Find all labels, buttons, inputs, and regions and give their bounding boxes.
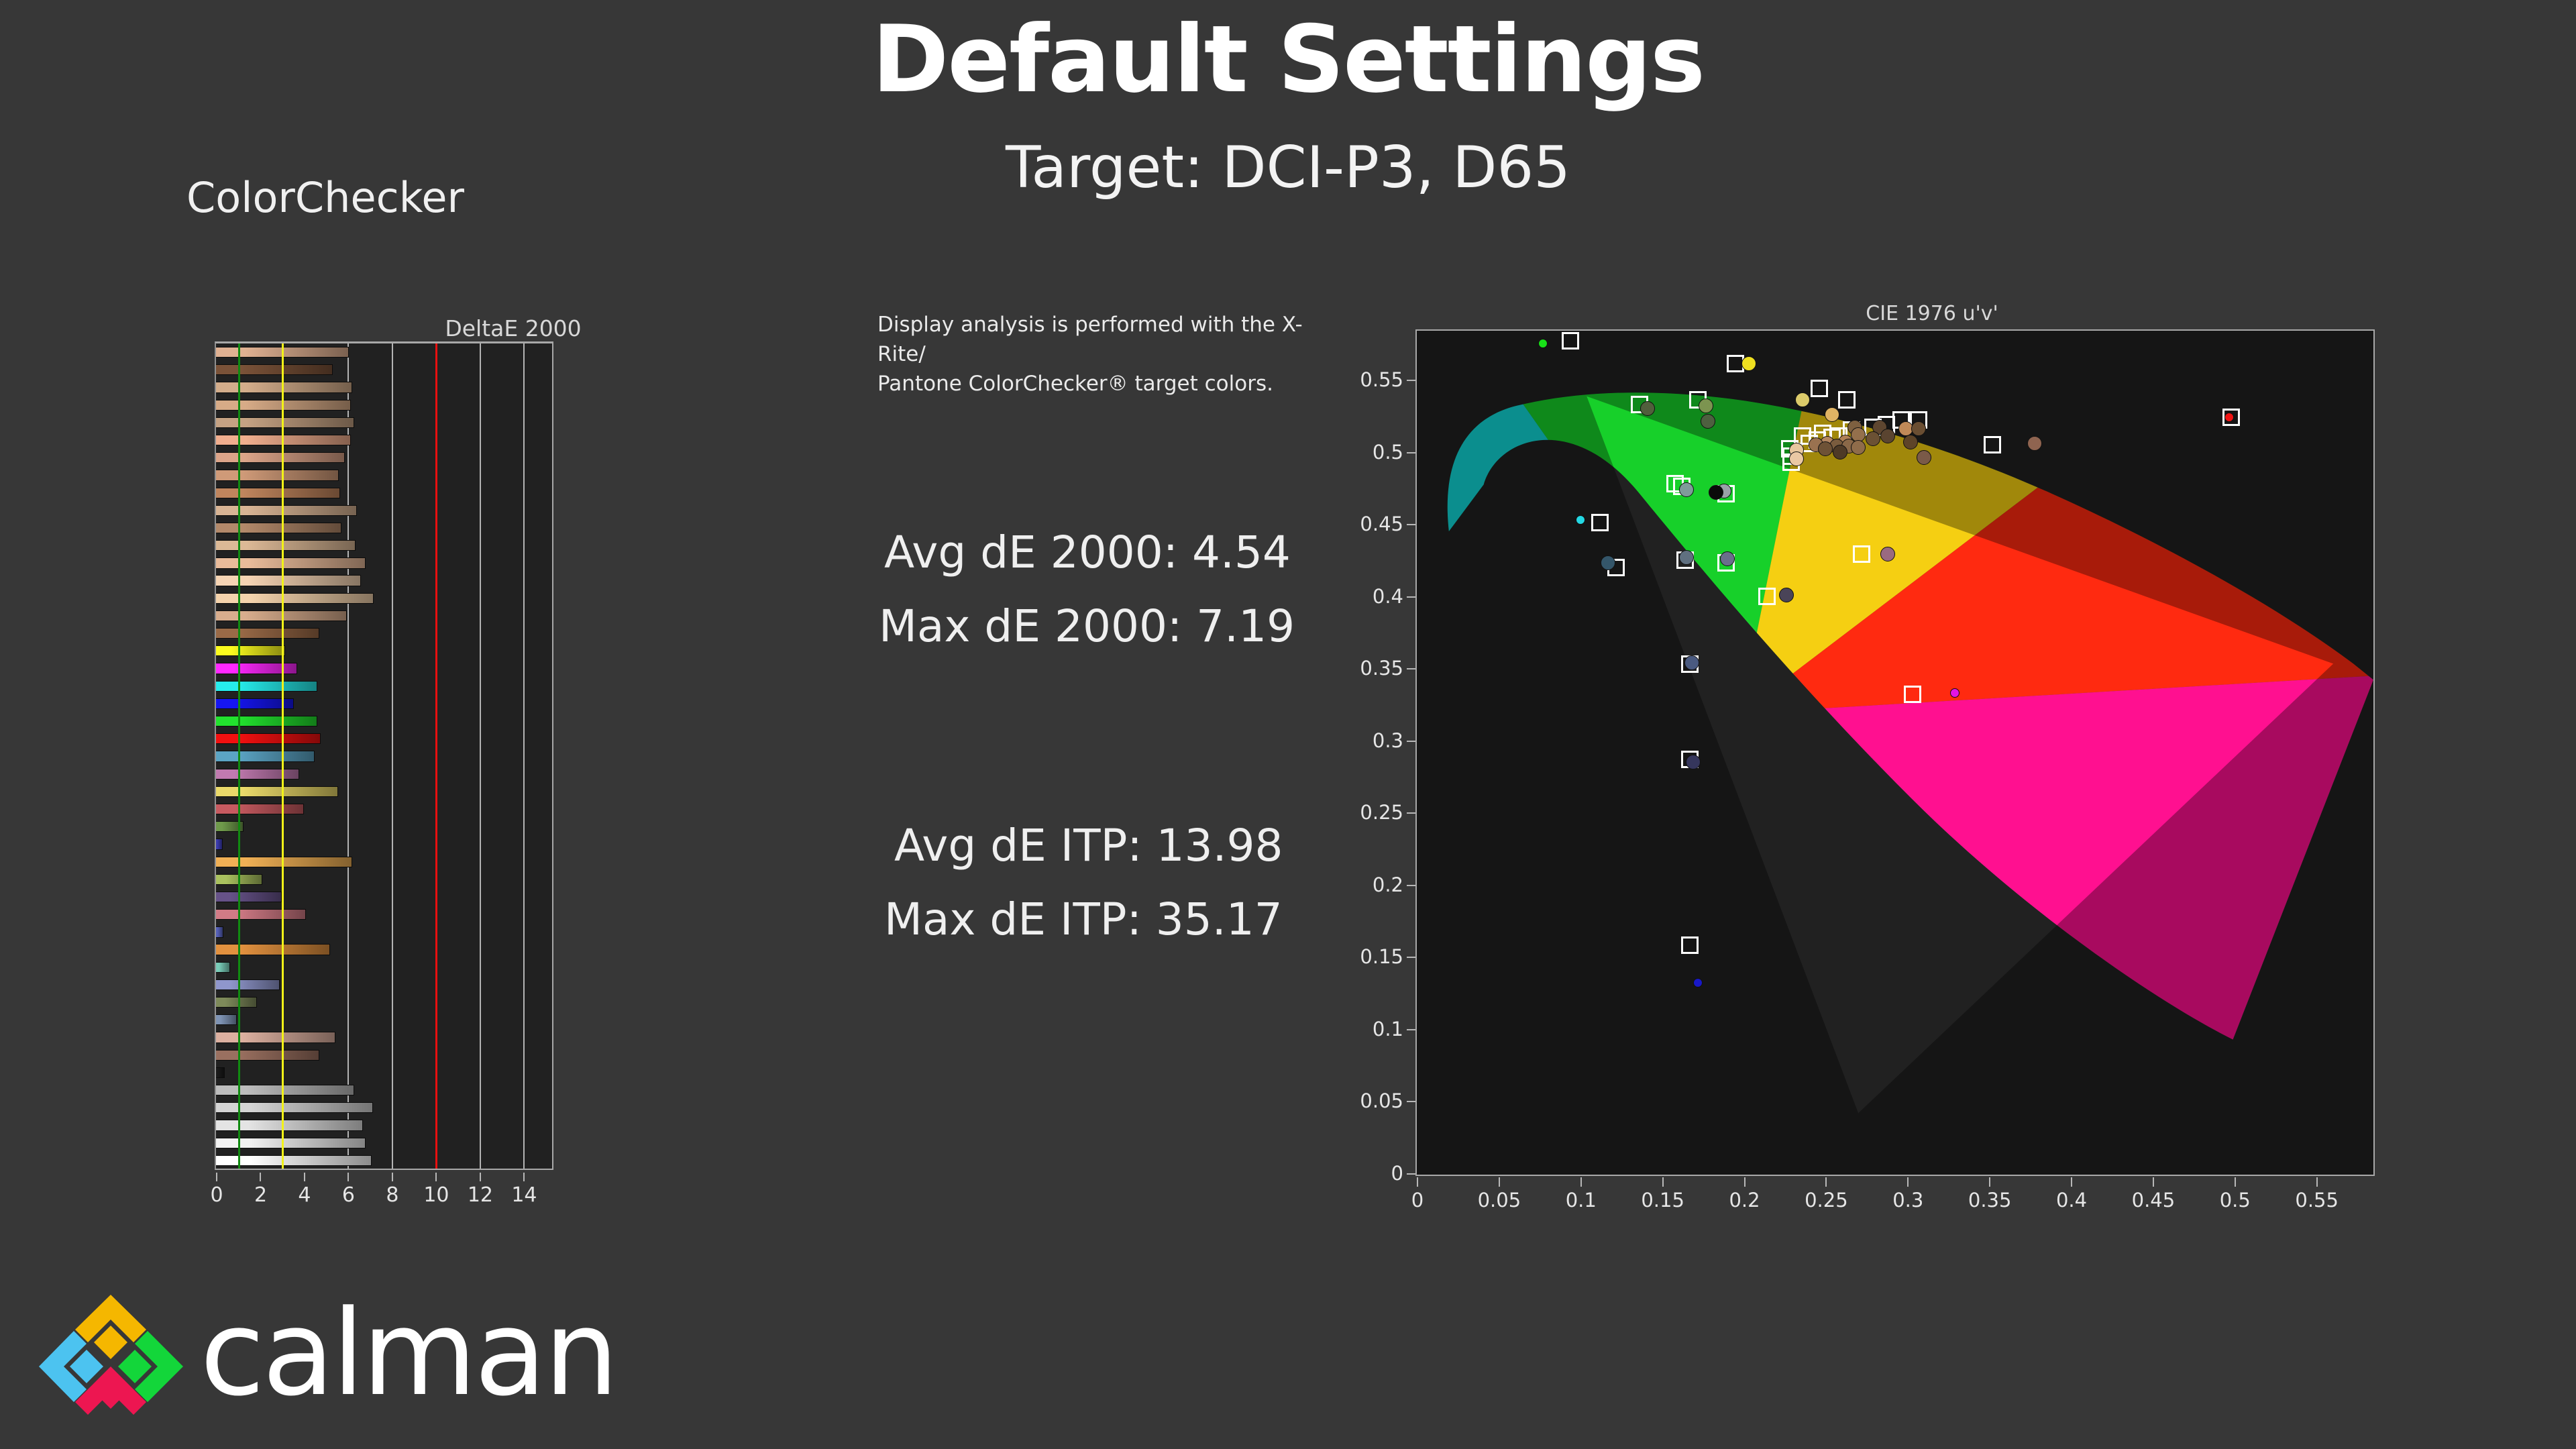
deltae-bar — [216, 979, 280, 990]
cie-x-tick — [2235, 1177, 2236, 1187]
deltae-x-tick — [347, 1173, 349, 1181]
cie-y-tick — [1407, 524, 1415, 525]
cie-measured-point — [1818, 441, 1833, 456]
cie-y-label: 0.05 — [1360, 1089, 1403, 1112]
cie-x-tick — [2316, 1177, 2318, 1187]
deltae-bar — [216, 382, 352, 392]
cie-target-marker — [1758, 588, 1776, 605]
cie-y-tick — [1407, 1173, 1415, 1175]
deltae-bar — [216, 769, 299, 780]
deltae-bar — [216, 523, 341, 533]
deltae-bar — [216, 488, 340, 498]
cie-y-tick — [1407, 452, 1415, 453]
deltae-x-tick — [480, 1173, 481, 1181]
cie-measured-point — [1880, 429, 1895, 443]
cie-x-tick — [1907, 1177, 1909, 1187]
cie-x-tick — [1499, 1177, 1500, 1187]
deltae-bar — [216, 716, 317, 727]
deltae-x-label: 12 — [468, 1183, 493, 1207]
green-threshold — [238, 343, 240, 1169]
deltae-chart-title: DeltaE 2000 — [201, 315, 825, 341]
cie-target-marker — [1984, 436, 2001, 453]
cie-y-label: 0.45 — [1360, 513, 1403, 535]
analysis-description-line2: Pantone ColorChecker® target colors. — [877, 369, 1347, 398]
cie-y-tick — [1407, 741, 1415, 742]
cie-y-tick — [1407, 1029, 1415, 1030]
cie-y-label: 0.4 — [1373, 585, 1403, 608]
deltae-x-tick — [435, 1173, 437, 1181]
deltae-gridline — [480, 343, 481, 1169]
deltae-bar — [216, 944, 330, 955]
deltae-x-label: 2 — [254, 1183, 267, 1207]
cie-measured-point — [1903, 435, 1918, 449]
cie-y-label: 0.3 — [1373, 729, 1403, 752]
cie-target-marker — [1562, 332, 1579, 350]
cie-chart-title: CIE 1976 u'v' — [1798, 302, 2066, 325]
deltae-bar — [216, 364, 333, 375]
cie-measured-point — [1833, 445, 1847, 460]
cie-y-axis: 00.050.10.150.20.250.30.350.40.450.50.55 — [1368, 329, 1415, 1179]
cie-x-label: 0.55 — [2295, 1189, 2339, 1212]
cie-measured-point — [1576, 515, 1585, 525]
cie-x-label: 0.1 — [1566, 1189, 1597, 1212]
cie-measured-point — [1684, 655, 1699, 670]
deltae-bar — [216, 540, 356, 551]
cie-measured-point — [1851, 440, 1866, 455]
deltae-bar — [216, 804, 304, 814]
cie-measured-point — [2027, 436, 2042, 451]
cie-x-label: 0.5 — [2220, 1189, 2251, 1212]
deltae-x-label: 4 — [298, 1183, 311, 1207]
deltae-x-label: 0 — [210, 1183, 223, 1207]
deltae-bar — [216, 751, 315, 761]
cie-x-tick — [2153, 1177, 2154, 1187]
cie-x-tick — [1744, 1177, 1746, 1187]
deltae-bar — [216, 839, 223, 849]
colorchecker-label: ColorChecker — [186, 173, 464, 222]
cie-x-axis: 00.050.10.150.20.250.30.350.40.450.50.55 — [1415, 1177, 2376, 1218]
deltae-bar — [216, 733, 321, 744]
cie-x-tick — [1417, 1177, 1418, 1187]
cie-measured-point — [1789, 451, 1804, 466]
cie-measured-point — [1720, 551, 1735, 566]
deltae-bar — [216, 1014, 237, 1025]
deltae-bar — [216, 417, 354, 428]
deltae-bar — [216, 1085, 354, 1095]
cie-y-tick — [1407, 596, 1415, 598]
analysis-description: Display analysis is performed with the X… — [877, 310, 1347, 398]
cie-measured-point — [1917, 450, 1931, 465]
deltae-bar — [216, 1050, 319, 1061]
deltae-bar — [216, 997, 257, 1008]
cie-y-tick — [1407, 885, 1415, 886]
deltae-bar — [216, 1032, 335, 1042]
cie-y-label: 0.35 — [1360, 657, 1403, 680]
cie-x-label: 0.15 — [1641, 1189, 1684, 1212]
cie-y-label: 0 — [1391, 1162, 1403, 1185]
cie-x-tick — [1662, 1177, 1664, 1187]
cie-chromaticity-chart: CIE 1976 u'v' 00.050.10.150.20.250.30.35… — [1368, 302, 2395, 1214]
deltae-x-tick — [216, 1173, 217, 1181]
cie-measured-point — [1538, 339, 1548, 348]
deltae-bar — [216, 681, 317, 692]
cie-x-tick — [1825, 1177, 1827, 1187]
cie-measured-point — [1911, 421, 1926, 436]
cie-target-marker — [1811, 380, 1828, 397]
deltae-plot-area — [215, 341, 553, 1170]
deltae-bar — [216, 909, 306, 920]
cie-measured-point — [1679, 482, 1694, 497]
cie-x-label: 0.35 — [1968, 1189, 2012, 1212]
cie-target-marker — [1681, 936, 1699, 954]
calman-logo: calman — [39, 1288, 683, 1422]
cie-y-label: 0.25 — [1360, 801, 1403, 824]
deltae-bar — [216, 470, 339, 480]
deltae-x-label: 10 — [423, 1183, 449, 1207]
cie-measured-point — [1679, 550, 1694, 565]
cie-x-label: 0.4 — [2056, 1189, 2087, 1212]
cie-x-label: 0.05 — [1478, 1189, 1521, 1212]
cie-x-label: 0 — [1411, 1189, 1424, 1212]
cie-measured-point — [1741, 356, 1756, 371]
deltae-gridline — [392, 343, 393, 1169]
cie-measured-point — [1880, 547, 1895, 561]
max-de2000-stat: Max dE 2000: 7.19 — [879, 600, 1295, 652]
deltae-x-label: 8 — [386, 1183, 398, 1207]
avg-de2000-stat: Avg dE 2000: 4.54 — [884, 527, 1291, 578]
deltae-bar — [216, 1067, 225, 1078]
red-threshold — [435, 343, 437, 1169]
cie-y-tick — [1407, 380, 1415, 381]
yellow-threshold — [282, 343, 284, 1169]
deltae-bar — [216, 926, 223, 937]
cie-measured-point — [2224, 413, 2234, 422]
page-title: Default Settings — [0, 13, 2576, 106]
deltae-x-tick — [392, 1173, 393, 1181]
deltae-bar — [216, 645, 285, 656]
deltae-x-label: 14 — [511, 1183, 537, 1207]
cie-measured-point — [1601, 555, 1615, 570]
cie-measured-point — [1699, 398, 1713, 413]
avg-deitp-stat: Avg dE ITP: 13.98 — [894, 820, 1283, 871]
cie-measured-point — [1825, 407, 1839, 422]
report-canvas: Default Settings Target: DCI-P3, D65 Col… — [0, 0, 2576, 1449]
cie-gamut-graphic — [1417, 331, 2373, 1175]
deltae-x-tick — [260, 1173, 261, 1181]
cie-y-tick — [1407, 957, 1415, 958]
cie-y-tick — [1407, 1101, 1415, 1102]
cie-y-tick — [1407, 668, 1415, 669]
deltae-x-axis: 02468101214 — [215, 1173, 555, 1210]
deltae-bar — [216, 663, 297, 674]
calman-logo-mark — [39, 1288, 183, 1422]
cie-measured-point — [1693, 978, 1703, 987]
deltae-x-tick — [304, 1173, 305, 1181]
deltae-bar — [216, 628, 319, 639]
cie-measured-point — [1795, 392, 1810, 407]
deltae-bar — [216, 452, 345, 463]
cie-y-label: 0.1 — [1373, 1018, 1403, 1040]
cie-x-tick — [2071, 1177, 2072, 1187]
cie-y-label: 0.2 — [1373, 873, 1403, 896]
cie-measured-point — [1950, 688, 1960, 698]
deltae-bar-chart: DeltaE 2000 02468101214 — [201, 315, 825, 1214]
deltae-gridline — [347, 343, 349, 1169]
cie-x-label: 0.45 — [2132, 1189, 2176, 1212]
cie-target-marker — [1591, 514, 1609, 531]
cie-y-label: 0.55 — [1360, 368, 1403, 391]
deltae-x-tick — [523, 1173, 525, 1181]
deltae-x-label: 6 — [342, 1183, 355, 1207]
cie-target-marker — [1853, 545, 1870, 563]
deltae-bar — [216, 786, 338, 797]
deltae-bar — [216, 892, 282, 902]
cie-y-label: 0.5 — [1373, 441, 1403, 464]
cie-measured-point — [1709, 485, 1723, 500]
cie-target-marker — [1904, 686, 1921, 703]
cie-plot-area — [1415, 329, 2375, 1176]
cie-x-tick — [1580, 1177, 1582, 1187]
calman-logo-text: calman — [200, 1295, 616, 1413]
cie-x-label: 0.25 — [1805, 1189, 1848, 1212]
analysis-description-line1: Display analysis is performed with the X… — [877, 310, 1347, 369]
deltae-bar — [216, 857, 352, 867]
cie-measured-point — [1866, 431, 1880, 446]
deltae-bar — [216, 962, 230, 973]
deltae-bar — [216, 505, 357, 516]
deltae-gridline — [523, 343, 525, 1169]
cie-y-tick — [1407, 812, 1415, 814]
cie-measured-point — [1779, 588, 1794, 602]
cie-x-tick — [1989, 1177, 1990, 1187]
cie-x-label: 0.2 — [1729, 1189, 1760, 1212]
cie-x-label: 0.3 — [1892, 1189, 1923, 1212]
cie-measured-point — [1701, 414, 1715, 429]
cie-y-label: 0.15 — [1360, 945, 1403, 968]
max-deitp-stat: Max dE ITP: 35.17 — [884, 894, 1283, 945]
cie-target-marker — [1838, 391, 1856, 409]
cie-measured-point — [1640, 401, 1655, 416]
cie-measured-point — [1686, 755, 1701, 769]
